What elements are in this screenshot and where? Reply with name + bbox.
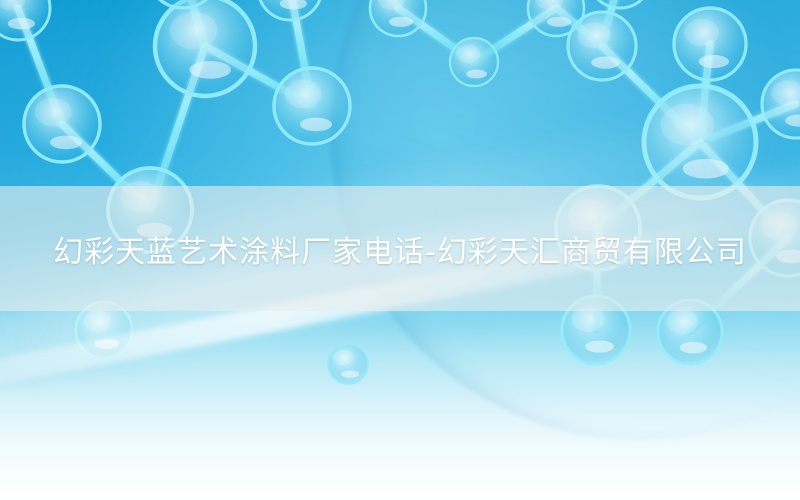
- molecule-node: [24, 86, 100, 162]
- molecule-node-highlight: [189, 61, 231, 79]
- molecule-node: [568, 12, 636, 80]
- molecule-node-highlight: [341, 370, 359, 377]
- molecule-node-sheen: [684, 19, 719, 46]
- molecule-node-sheen: [35, 98, 72, 127]
- molecule-node: [274, 68, 350, 144]
- molecule-node-sheen: [285, 80, 322, 109]
- molecule-node: [450, 38, 498, 86]
- molecule-node-highlight: [389, 17, 413, 27]
- molecule-node: [155, 0, 255, 96]
- molecule-node-highlight: [591, 56, 620, 68]
- molecule-node: [328, 344, 368, 384]
- molecule-node-highlight: [547, 17, 571, 27]
- molecule-node-sheen: [667, 310, 698, 334]
- molecule-node: [0, 0, 50, 40]
- molecule-node-sheen: [170, 12, 218, 49]
- molecule-node-highlight: [699, 55, 729, 68]
- banner-image: 幻彩天蓝艺术涂料厂家电话-幻彩天汇商贸有限公司: [0, 0, 800, 500]
- molecule-node-highlight: [8, 18, 35, 30]
- molecule-node: [258, 0, 322, 20]
- molecule-node-sheen: [333, 349, 353, 365]
- molecule-node-highlight: [50, 136, 82, 150]
- molecule-node-highlight: [585, 340, 614, 352]
- banner-title: 幻彩天蓝艺术涂料厂家电话-幻彩天汇商贸有限公司: [0, 186, 800, 311]
- molecule-node: [674, 8, 746, 80]
- molecule-node-sheen: [578, 22, 611, 48]
- molecule-node-highlight: [300, 118, 332, 132]
- molecule-node-highlight: [466, 70, 487, 79]
- molecule-node: [588, 0, 652, 8]
- molecule-node-sheen: [456, 45, 480, 64]
- molecule-node: [370, 0, 426, 36]
- molecule-node-highlight: [680, 342, 707, 354]
